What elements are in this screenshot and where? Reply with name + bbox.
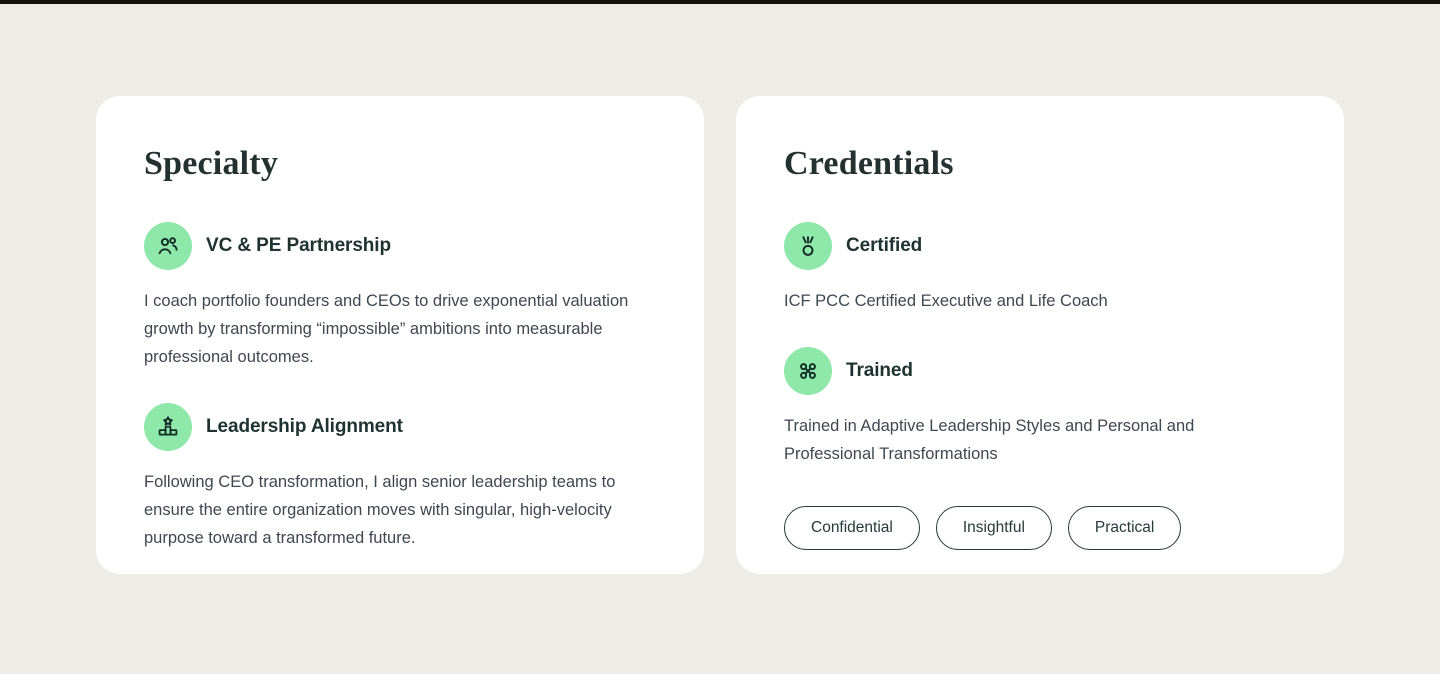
- specialty-item-title: Leadership Alignment: [206, 415, 403, 439]
- credentials-card: Credentials Certified ICF PCC Certified …: [736, 96, 1344, 574]
- users-icon: [144, 222, 192, 270]
- specialty-card-title: Specialty: [144, 144, 656, 184]
- credentials-item-description: ICF PCC Certified Executive and Life Coa…: [784, 287, 1284, 315]
- credentials-item-description: Trained in Adaptive Leadership Styles an…: [784, 412, 1284, 468]
- medal-icon: [784, 222, 832, 270]
- specialty-card: Specialty VC & PE Partnership I coach po…: [96, 96, 704, 574]
- credentials-pill-group: Confidential Insightful Practical: [784, 506, 1296, 550]
- cards-container: Specialty VC & PE Partnership I coach po…: [96, 96, 1344, 574]
- credentials-item-header: Certified: [784, 222, 1296, 270]
- specialty-item-header: Leadership Alignment: [144, 403, 656, 451]
- credentials-item-title: Trained: [846, 359, 913, 383]
- command-clover-icon: [784, 347, 832, 395]
- pill-practical[interactable]: Practical: [1068, 506, 1181, 550]
- credentials-item-certified: Certified ICF PCC Certified Executive an…: [784, 222, 1296, 315]
- credentials-item-trained: Trained Trained in Adaptive Leadership S…: [784, 347, 1296, 468]
- specialty-item-leadership-alignment: Leadership Alignment Following CEO trans…: [144, 403, 656, 552]
- specialty-item-title: VC & PE Partnership: [206, 234, 391, 258]
- specialty-item-vc-pe-partnership: VC & PE Partnership I coach portfolio fo…: [144, 222, 656, 371]
- podium-star-icon: [144, 403, 192, 451]
- credentials-item-title: Certified: [846, 234, 922, 258]
- pill-insightful[interactable]: Insightful: [936, 506, 1052, 550]
- specialty-item-header: VC & PE Partnership: [144, 222, 656, 270]
- specialty-item-description: I coach portfolio founders and CEOs to d…: [144, 287, 656, 371]
- pill-confidential[interactable]: Confidential: [784, 506, 920, 550]
- page-root: Specialty VC & PE Partnership I coach po…: [0, 0, 1440, 674]
- specialty-item-description: Following CEO transformation, I align se…: [144, 468, 656, 552]
- credentials-card-title: Credentials: [784, 144, 1296, 184]
- credentials-item-header: Trained: [784, 347, 1296, 395]
